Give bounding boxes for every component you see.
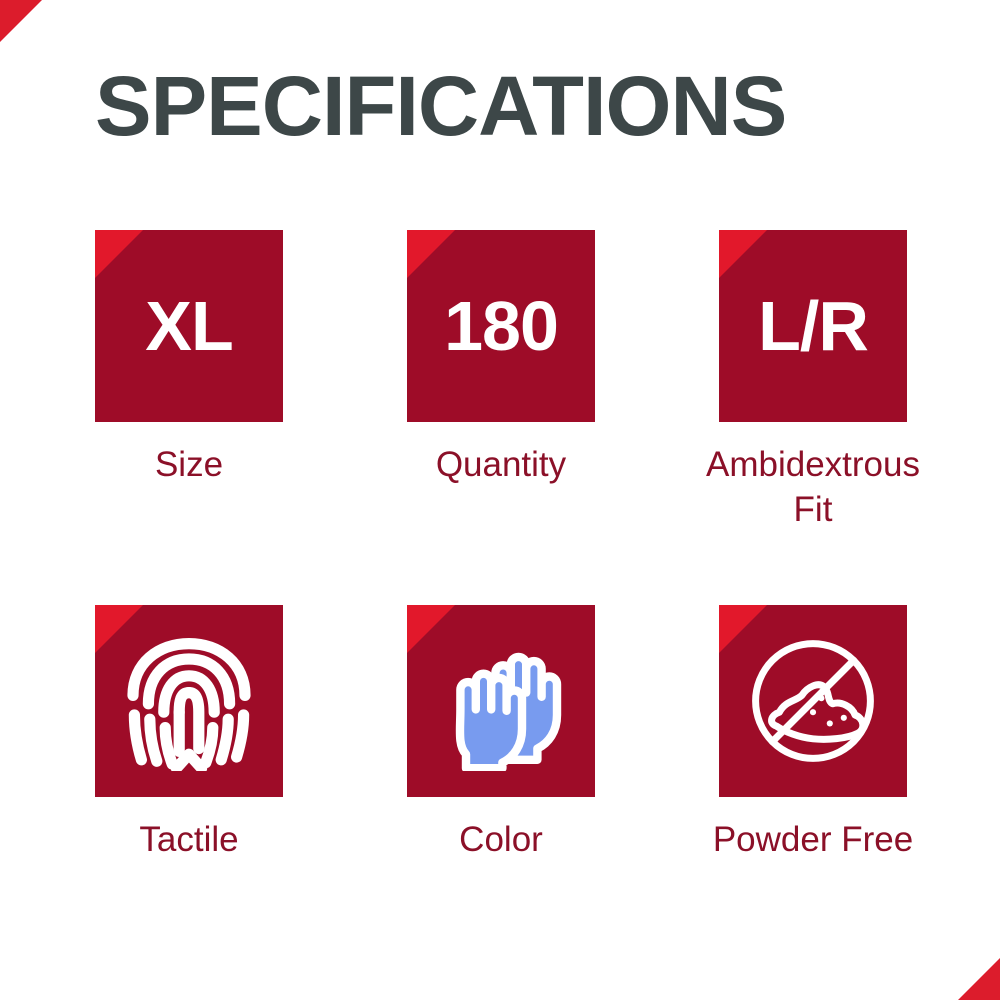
spec-item-powder-free: Powder Free	[719, 605, 907, 862]
spec-label-powder-free: Powder Free	[683, 817, 943, 862]
gloves-icon	[431, 631, 571, 771]
spec-tile-tactile	[95, 605, 283, 797]
tile-corner-accent-icon	[719, 230, 767, 278]
fingerprint-icon	[119, 631, 259, 771]
ambidextrous-lr-icon: L/R	[758, 291, 868, 361]
size-xl-icon: XL	[145, 291, 232, 361]
spec-item-tactile: Tactile	[95, 605, 283, 862]
no-powder-icon	[743, 631, 883, 771]
spec-tile-powder-free	[719, 605, 907, 797]
spec-tile-quantity: 180	[407, 230, 595, 422]
page-title: SPECIFICATIONS	[95, 62, 943, 150]
spec-tile-ambidextrous: L/R	[719, 230, 907, 422]
spec-label-quantity: Quantity	[371, 442, 631, 487]
spec-item-size: XL Size	[95, 230, 283, 532]
corner-accent-top-left	[0, 0, 42, 42]
spec-label-tactile: Tactile	[59, 817, 319, 862]
quantity-180-icon: 180	[444, 291, 558, 361]
spec-label-ambidextrous: Ambidextrous Fit	[683, 442, 943, 532]
corner-accent-bottom-right	[958, 958, 1000, 1000]
spec-label-color: Color	[371, 817, 631, 862]
spec-grid-row-1: XL Size 180 Quantity L/R Ambidextrous Fi…	[95, 230, 907, 532]
spec-tile-color	[407, 605, 595, 797]
tile-corner-accent-icon	[95, 230, 143, 278]
spec-item-ambidextrous: L/R Ambidextrous Fit	[719, 230, 907, 532]
spec-label-size: Size	[59, 442, 319, 487]
spec-item-quantity: 180 Quantity	[407, 230, 595, 532]
spec-grid-row-2: Tactile Color	[95, 605, 907, 862]
spec-item-color: Color	[407, 605, 595, 862]
spec-tile-size: XL	[95, 230, 283, 422]
tile-corner-accent-icon	[407, 230, 455, 278]
